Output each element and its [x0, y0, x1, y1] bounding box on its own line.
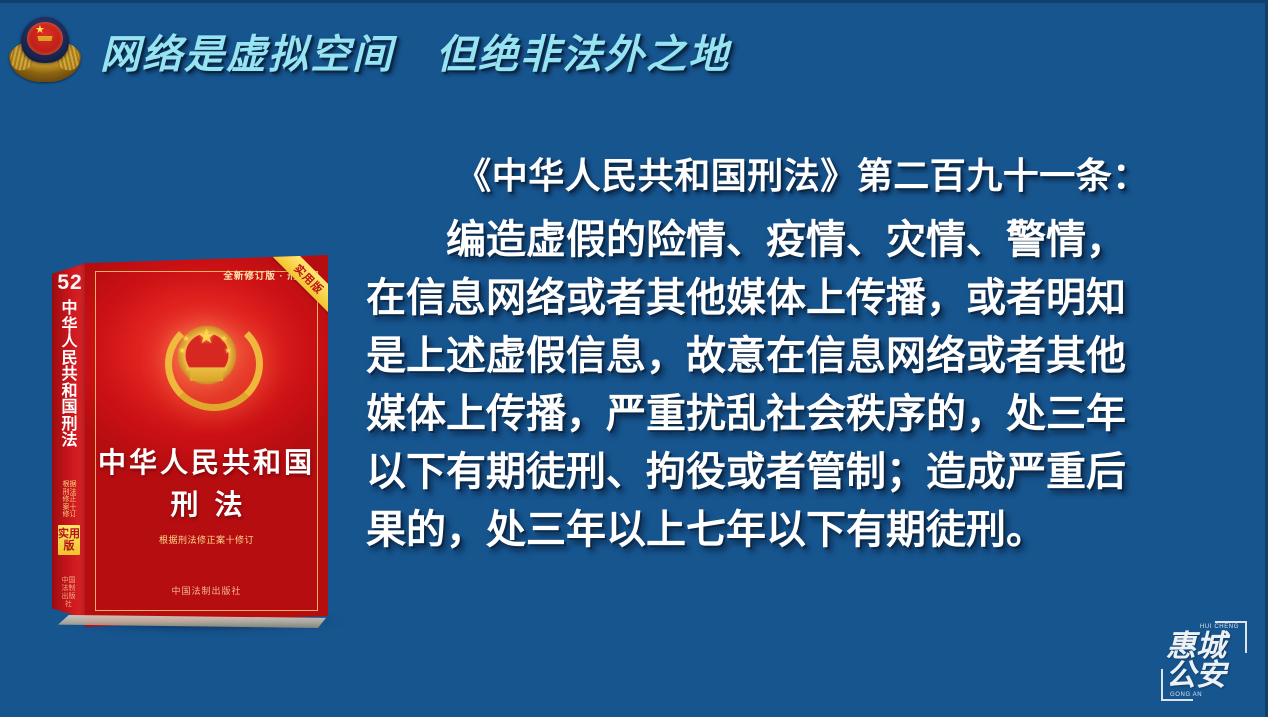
book-spine-subtitle: 根据刑法修正案十修订 — [62, 481, 77, 519]
book-cover-publisher: 中国法制出版社 — [85, 584, 328, 597]
watermark-pinyin-bottom: GONG AN — [1170, 692, 1202, 698]
law-line: 果的，处三年以上七年以下有期徒刑。 — [366, 501, 1238, 559]
badge-shield — [21, 17, 69, 63]
book-3d: 52 中华人民共和国刑法 根据刑法修正案十修订 实用版 中国法制出版社 全新修订… — [52, 255, 328, 627]
book-spine-badge: 实用版 — [58, 525, 80, 555]
police-badge-icon: ★ — [8, 14, 82, 88]
law-line: 在信息网络或者其他媒体上传播，或者明知 — [366, 269, 1238, 327]
law-article-body: 编造虚假的险情、疫情、灾情、警情， 在信息网络或者其他媒体上传播，或者明知 是上… — [366, 211, 1238, 559]
book-spine-title: 中华人民共和国刑法 — [59, 301, 80, 450]
watermark-logo: HUI CHENG 惠城公安 GONG AN — [1161, 619, 1247, 703]
emblem-star-large: ★ — [198, 327, 216, 347]
slide-canvas: ★ 网络是虚拟空间 但绝非法外之地 52 中华人民共和国刑法 根据刑法修正案十修… — [0, 0, 1268, 717]
law-article-heading: 《中华人民共和国刑法》第二百九十一条： — [366, 153, 1238, 199]
book-cover-title-line2: 刑法 — [85, 483, 328, 523]
book-cover-title-line1: 中华人民共和国 — [85, 441, 328, 481]
emblem-star-small-1: ★ — [183, 335, 190, 343]
header-title: 网络是虚拟空间 但绝非法外之地 — [100, 22, 730, 80]
emblem-star-small-4: ★ — [225, 347, 232, 355]
law-line: 以下有期徒刑、拘役或者管制；造成严重后 — [366, 443, 1238, 501]
law-line: 媒体上传播，严重扰乱社会秩序的，处三年 — [366, 385, 1238, 443]
book-front-cover: 全新修订版 · 刑 法 实用版 ★ ★ ★ ★ ★ 中华人民共和国 刑法 根据刑… — [85, 255, 328, 627]
header-banner: ★ 网络是虚拟空间 但绝非法外之地 — [0, 3, 1268, 99]
emblem-star-small-2: ★ — [179, 347, 186, 355]
law-line: 编造虚假的险情、疫情、灾情、警情， — [366, 211, 1238, 269]
watermark-characters: 惠城公安 — [1166, 632, 1242, 690]
law-line: 是上述虚假信息，故意在信息网络或者其他 — [366, 327, 1238, 385]
emblem-star-small-3: ★ — [221, 335, 228, 343]
book-spine: 52 中华人民共和国刑法 根据刑法修正案十修订 实用版 中国法制出版社 — [52, 263, 86, 619]
criminal-law-book: 52 中华人民共和国刑法 根据刑法修正案十修订 实用版 中国法制出版社 全新修订… — [52, 255, 352, 635]
law-text-block: 《中华人民共和国刑法》第二百九十一条： 编造虚假的险情、疫情、灾情、警情， 在信… — [366, 153, 1238, 559]
book-spine-number: 52 — [55, 271, 85, 295]
book-cover-subtitle: 根据刑法修正案十修订 — [85, 533, 328, 546]
book-spine-publisher: 中国法制出版社 — [61, 577, 76, 609]
national-emblem-icon: ★ ★ ★ ★ ★ — [159, 307, 255, 403]
